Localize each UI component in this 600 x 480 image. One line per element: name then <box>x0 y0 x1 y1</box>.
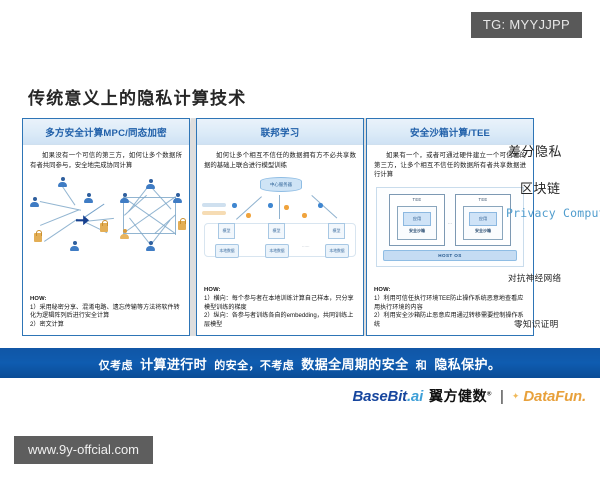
model-down-dot <box>284 205 289 210</box>
panel-mpc-how: HOW: 1）采用秘密分享、混淆电路、遗忘传输等方法将软件转化为逻辑阵列后进行安… <box>30 295 183 330</box>
how-item: 2）利用安全沙箱防止恶意应用通过转移需要控制操作系统 <box>374 312 527 330</box>
legend-gradient <box>202 203 226 207</box>
tee-inner-frame: 应用 安全沙箱 <box>397 206 437 240</box>
panel-tee-how: HOW: 1）利用可信任执行环境TEE防止操作系统恶意地查看应用执行环境的内容 … <box>374 286 527 330</box>
app-box: 应用 <box>403 212 431 226</box>
how-item: 1）利用可信任执行环境TEE防止操作系统恶意地查看应用执行环境的内容 <box>374 295 527 313</box>
participant-icon <box>120 193 129 204</box>
host-machine-frame: TEE 应用 安全沙箱 ... TEE 应用 安全沙箱 HOST OS <box>376 187 524 267</box>
footer-seg-2: 计算进行时 <box>140 357 207 372</box>
how-item: 2）密文计算 <box>30 321 183 330</box>
footer-seg-1: 仅考虑 <box>99 360 133 372</box>
registered-mark: ® <box>487 391 492 397</box>
client-data-store: 本地数据 <box>325 244 349 258</box>
gradient-up-dot <box>232 203 237 208</box>
participant-icon <box>173 193 182 204</box>
mpc-mesh-topology <box>28 173 184 259</box>
app-box: 应用 <box>469 212 497 226</box>
tee-sandbox-diagram: TEE 应用 安全沙箱 ... TEE 应用 安全沙箱 HOST OS <box>372 183 528 269</box>
mpc-network-diagram <box>28 173 184 259</box>
model-down-dot <box>246 213 251 218</box>
tee-ellipsis: ... <box>448 220 452 226</box>
basebit-logo: BaseBit.ai <box>353 388 424 405</box>
model-down-dot <box>302 213 307 218</box>
sync-arrow <box>311 195 337 218</box>
basebit-chinese-name: 翼方健数® <box>429 386 492 406</box>
client-model-box: 模型 <box>328 223 345 239</box>
central-server-node: 中心服务器 <box>260 177 302 192</box>
basebit-ai-suffix: .ai <box>407 388 423 405</box>
legend-model <box>202 211 226 215</box>
footer-banner: 仅考虑 计算进行时 的安全，不考虑 数据全周期的安全 和 隐私保护。 <box>0 348 600 378</box>
panel-mpc: 多方安全计算MPC/同态加密 如果没有一个可信的第三方，如何让多个数据所有者共同… <box>22 118 190 336</box>
client-ellipsis: ...... <box>302 243 310 248</box>
how-label: HOW: <box>30 296 47 302</box>
network-edge <box>124 197 176 198</box>
keyword-zero-knowledge-proof: 零知识证明 <box>514 318 558 330</box>
panel-federated-title: 联邦学习 <box>261 125 300 139</box>
tee-inner-frame: 应用 安全沙箱 <box>463 206 503 240</box>
panel-mpc-description: 如果没有一个可信的第三方，如何让多个数据所有者共同参与，安全地完成协同计算 <box>23 145 189 170</box>
client-data-store: 本地数据 <box>265 244 289 258</box>
keyword-privacy-computing: Privacy Computing <box>506 206 600 222</box>
network-edge <box>124 233 176 234</box>
datafun-logo: DataFun. <box>523 388 586 405</box>
footer-seg-4: 数据全周期的安全 <box>301 357 408 372</box>
host-os-bar: HOST OS <box>383 250 517 261</box>
panel-mpc-header: 多方安全计算MPC/同态加密 <box>23 119 189 145</box>
client-node: 模型 本地数据 <box>324 223 350 263</box>
tg-watermark: TG: MYYJJPP <box>471 12 582 38</box>
federated-learning-diagram: 中心服务器 模型 本地数据 模型 本地数据 模型 本地数 <box>202 173 358 259</box>
slide-canvas: TG: MYYJJPP 传统意义上的隐私计算技术 多方安全计算MPC/同态加密 … <box>0 0 600 480</box>
sparkle-icon: ✦ <box>512 391 520 402</box>
panel-federated-learning: 联邦学习 如何让多个相互不信任的数据拥有方不必共享数据的基础上联合进行模型训练 … <box>196 118 364 336</box>
participant-icon <box>120 229 129 240</box>
keyword-blockchain: 区块链 <box>520 178 561 197</box>
keyword-differential-privacy: 差分隐私 <box>508 141 562 160</box>
keyword-adversarial-network: 对抗神经网络 <box>508 272 561 284</box>
tee-label: TEE <box>456 195 510 202</box>
gradient-up-dot <box>268 203 273 208</box>
client-model-box: 模型 <box>218 223 235 239</box>
how-label: HOW: <box>374 287 391 293</box>
sync-arrow <box>279 195 280 219</box>
sandbox-label: 安全沙箱 <box>475 228 491 234</box>
panel-mpc-title: 多方安全计算MPC/同态加密 <box>45 125 167 139</box>
basebit-chinese-text: 翼方健数 <box>429 388 487 404</box>
panel-federated-header: 联邦学习 <box>197 119 363 145</box>
page-title: 传统意义上的隐私计算技术 <box>28 84 246 109</box>
client-data-store: 本地数据 <box>215 244 239 258</box>
tee-enclave-right: TEE 应用 安全沙箱 <box>455 194 511 246</box>
footer-statement: 仅考虑 计算进行时 的安全，不考虑 数据全周期的安全 和 隐私保护。 <box>99 354 502 373</box>
how-item: 1）采用秘密分享、混淆电路、遗忘传输等方法将软件转化为逻辑阵列后进行安全计算 <box>30 304 183 322</box>
sandbox-label: 安全沙箱 <box>409 228 425 234</box>
how-item: 2）纵向：各参与者训练各自的embedding，共同训练上层模型 <box>204 312 357 330</box>
panel-federated-description: 如何让多个相互不信任的数据拥有方不必共享数据的基础上联合进行模型训练 <box>197 145 363 170</box>
how-item: 1）横向：每个参与者在本地训练计算自己样本，只分享模型训练的梯度 <box>204 295 357 313</box>
participant-icon <box>146 179 155 190</box>
tee-label: TEE <box>390 195 444 202</box>
footer-seg-6: 隐私保护。 <box>434 357 501 372</box>
participant-icon <box>146 241 155 252</box>
logo-row: BaseBit.ai 翼方健数® | ✦ DataFun. <box>353 386 587 406</box>
url-watermark: www.9y-offcial.com <box>14 436 153 464</box>
tee-enclave-left: TEE 应用 安全沙箱 <box>389 194 445 246</box>
client-model-box: 模型 <box>268 223 285 239</box>
panel-federated-how: HOW: 1）横向：每个参与者在本地训练计算自己样本，只分享模型训练的梯度 2）… <box>204 286 357 330</box>
logo-divider: | <box>500 388 504 405</box>
how-label: HOW: <box>204 287 221 293</box>
client-node: 模型 本地数据 <box>214 223 240 263</box>
client-node: 模型 本地数据 <box>264 223 290 263</box>
panel-tee-title: 安全沙箱计算/TEE <box>410 125 490 139</box>
lock-icon <box>178 221 186 230</box>
footer-seg-3: 的安全，不考虑 <box>214 360 294 372</box>
footer-seg-5: 和 <box>416 360 427 372</box>
gradient-up-dot <box>318 203 323 208</box>
basebit-wordmark: BaseBit <box>353 388 407 405</box>
